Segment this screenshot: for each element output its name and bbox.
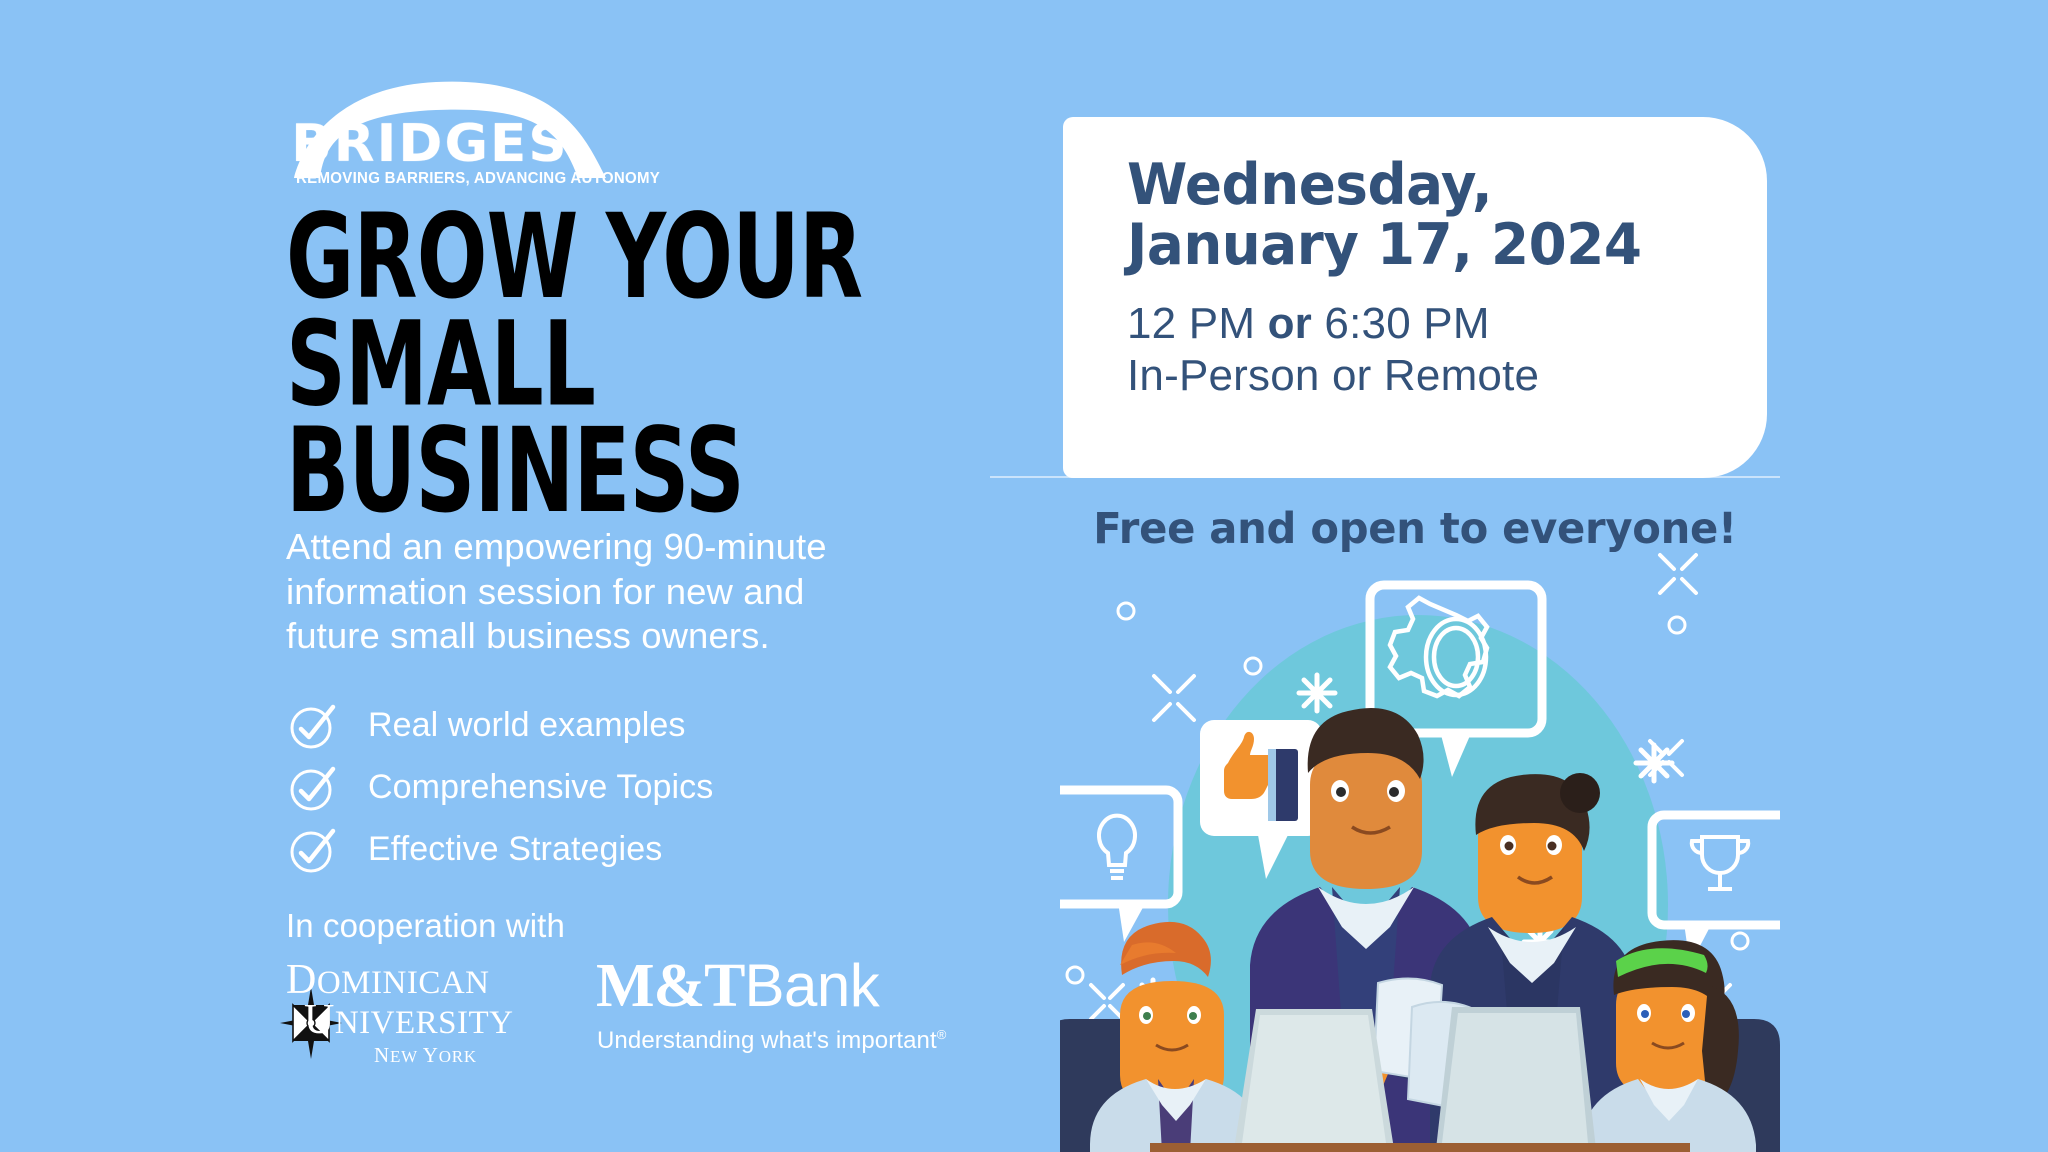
dominican-line-1: DOMINICAN: [286, 959, 490, 1001]
mt-bank-wordmark: M&TBank: [596, 955, 879, 1017]
bridges-wordmark: BRIDGES: [291, 118, 568, 170]
event-time-second: 6:30 PM: [1312, 299, 1490, 348]
circle-outline-decoration: [1067, 967, 1083, 983]
flyer-canvas: BRIDGES REMOVING BARRIERS, ADVANCING AUT…: [0, 0, 2048, 1152]
bridges-logo: BRIDGES REMOVING BARRIERS, ADVANCING AUT…: [286, 70, 706, 190]
dominican-line-3: NEW YORK: [374, 1043, 477, 1068]
mt-bank-logo: M&TBank Understanding what's important®: [596, 959, 926, 1067]
trophy-icon: [1692, 837, 1748, 889]
illustration-svg: [1060, 545, 1780, 1152]
asterisk-sparkle-decoration: [1636, 745, 1672, 781]
check-circle-icon: [286, 762, 338, 814]
x-sparkle-decoration: [1660, 555, 1696, 593]
event-date: Wednesday, January 17, 2024: [1127, 155, 1722, 276]
mt-bank-word: Bank: [745, 952, 880, 1019]
x-sparkle-decoration: [1091, 985, 1123, 1019]
list-item: Real world examples: [286, 695, 1046, 757]
circle-outline-decoration: [1669, 617, 1685, 633]
list-item: Comprehensive Topics: [286, 757, 1046, 819]
partner-logos: DOMINICAN UNIVERSITY NEW YORK M&TBank Un…: [286, 959, 1046, 1067]
laptop-left: [1234, 1009, 1394, 1149]
x-sparkle-decoration: [1154, 676, 1194, 720]
event-date-card-content: Wednesday, January 17, 2024 12 PM or 6:3…: [1127, 155, 1747, 402]
divider-line: [990, 476, 1780, 478]
mt-bank-mark: M&T: [596, 952, 745, 1020]
asterisk-sparkle-decoration: [1299, 675, 1335, 711]
event-format: In-Person or Remote: [1127, 351, 1539, 400]
dominican-university-logo: DOMINICAN UNIVERSITY NEW YORK: [286, 959, 554, 1067]
list-item-label: Effective Strategies: [368, 830, 662, 869]
list-item: Effective Strategies: [286, 819, 1046, 881]
dominican-line-2: UNIVERSITY: [304, 999, 514, 1041]
laptop-right: [1436, 1007, 1596, 1149]
business-meeting-illustration: [1060, 545, 1780, 1152]
bridges-tagline: REMOVING BARRIERS, ADVANCING AUTONOMY: [296, 170, 660, 188]
mt-bank-tagline: Understanding what's important®: [597, 1027, 946, 1055]
description-text: Attend an empowering 90-minute informati…: [286, 525, 976, 659]
left-column: BRIDGES REMOVING BARRIERS, ADVANCING AUT…: [286, 70, 1046, 1067]
benefits-list: Real world examples Comprehensive Topics…: [286, 695, 1046, 881]
page-title: GROW YOUR SMALL BUSINESS: [286, 204, 894, 525]
event-time-first: 12 PM: [1127, 299, 1268, 348]
speech-bubble-lightbulb: [1060, 790, 1178, 942]
circle-outline-decoration: [1118, 603, 1134, 619]
lightbulb-icon: [1099, 816, 1135, 878]
event-time-details: 12 PM or 6:30 PMIn-Person or Remote: [1127, 298, 1747, 402]
list-item-label: Real world examples: [368, 706, 685, 745]
circle-outline-decoration: [1732, 933, 1748, 949]
event-date-card: Wednesday, January 17, 2024 12 PM or 6:3…: [1063, 117, 1767, 478]
check-circle-icon: [286, 824, 338, 876]
meeting-table: [1150, 1143, 1690, 1152]
cooperation-label: In cooperation with: [286, 907, 1046, 945]
circle-outline-decoration: [1245, 658, 1261, 674]
list-item-label: Comprehensive Topics: [368, 768, 713, 807]
event-time-conjunction: or: [1268, 299, 1312, 348]
check-circle-icon: [286, 700, 338, 752]
